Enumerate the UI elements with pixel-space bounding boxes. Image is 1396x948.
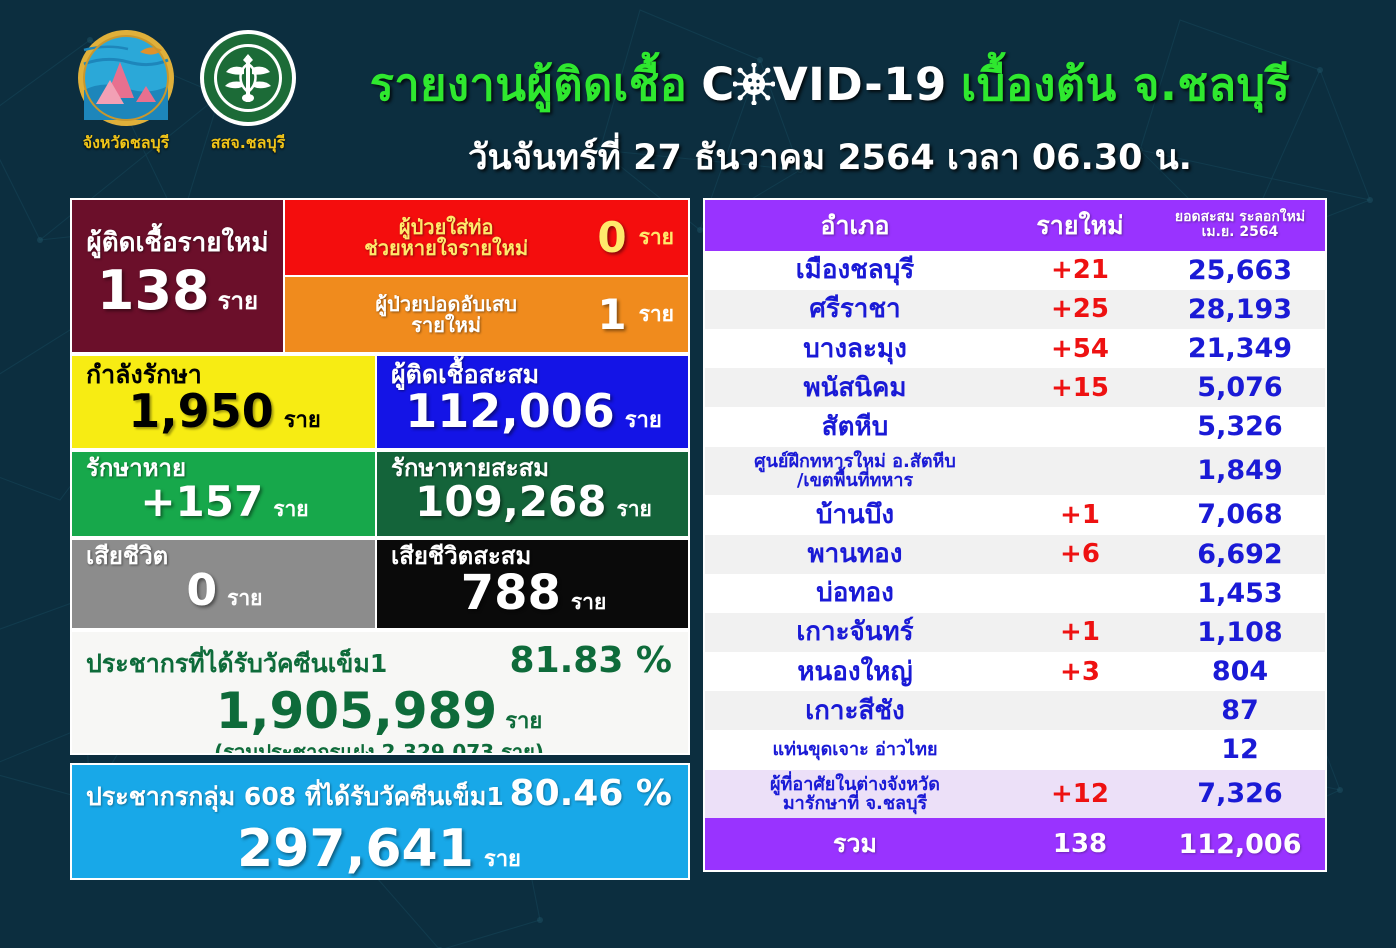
district-name-line: ศูนย์ฝึกทหารใหม่ อ.สัตหีบ [713, 452, 997, 471]
stat-pneumonia-label-line1: ผู้ป่วยปอดอับเสบ [299, 294, 593, 315]
district-name-line: เมืองชลบุรี [713, 256, 997, 284]
vaccine-dose1-note: (รวมประชากรแฝง 2,329,073 ราย) [86, 736, 672, 755]
column-header-cumulative: ยอดสะสม ระลอกใหม่ เม.ย. 2564 [1155, 200, 1325, 251]
table-row: บ้านบึง+17,068 [705, 495, 1325, 534]
district-name-line: สัตหีบ [713, 413, 997, 441]
cell-district-name: พานทอง [705, 535, 1005, 574]
column-header-cumulative-line1: ยอดสะสม ระลอกใหม่ [1161, 210, 1319, 225]
stat-currently-treating: กำลังรักษา 1,950 ราย [70, 354, 375, 450]
cell-district-name: หนองใหญ่ [705, 652, 1005, 691]
stat-recovered-new-value-row: +157 ราย [86, 477, 363, 526]
cell-new-cases [1005, 730, 1155, 769]
district-name-line: เกาะจันทร์ [713, 618, 997, 646]
total-cumulative: 112,006 [1155, 818, 1325, 870]
cell-new-cases: +6 [1005, 535, 1155, 574]
stat-cumulative-deaths-unit: ราย [571, 586, 606, 619]
cell-cumulative-cases: 12 [1155, 730, 1325, 769]
cell-cumulative-cases: 1,453 [1155, 574, 1325, 613]
cell-district-name: เกาะจันทร์ [705, 613, 1005, 652]
summary-stats-panel: ผู้ติดเชื้อรายใหม่ 138 ราย ผู้ป่วยใส่ท่อ… [70, 198, 690, 880]
stat-cumulative-deaths: เสียชีวิตสะสม 788 ราย [375, 538, 690, 630]
logo-group: จังหวัดชลบุรี สสจ.ชลบุรี [0, 0, 304, 156]
cell-cumulative-cases: 1,849 [1155, 447, 1325, 496]
stat-pneumonia-value: 1 [597, 290, 626, 339]
cell-new-cases: +3 [1005, 652, 1155, 691]
page-title: รายงานผู้ติดเชื้อ C [304, 48, 1356, 120]
stats-row-3: รักษาหาย +157 ราย รักษาหายสะสม 109,268 ร… [70, 450, 690, 538]
cell-cumulative-cases: 28,193 [1155, 290, 1325, 329]
cell-district-name: พนัสนิคม [705, 368, 1005, 407]
title-block: รายงานผู้ติดเชื้อ C [304, 0, 1396, 185]
logo-chonburi: จังหวัดชลบุรี [70, 28, 182, 156]
district-name-line: บ่อทอง [713, 579, 997, 607]
table-row: พานทอง+66,692 [705, 535, 1325, 574]
cell-new-cases: +1 [1005, 613, 1155, 652]
stat-cumulative-cases-value-row: 112,006 ราย [391, 384, 676, 438]
coronavirus-icon [733, 63, 775, 105]
district-name-line: ศรีราชา [713, 295, 997, 323]
table-row: สัตหีบ5,326 [705, 407, 1325, 446]
vaccine-group608-top-row: ประชากรกลุ่ม 608 ที่ได้รับวัคซีนเข็ม1 80… [86, 773, 672, 817]
chonburi-provincial-seal-icon [76, 28, 176, 128]
stat-cumulative-cases-unit: ราย [625, 402, 662, 437]
district-table-header-row: อำเภอ รายใหม่ ยอดสะสม ระลอกใหม่ เม.ย. 25… [705, 200, 1325, 251]
district-name-line: เกาะสีชัง [713, 697, 997, 725]
cell-cumulative-cases: 7,068 [1155, 495, 1325, 534]
district-name-line: บางละมุง [713, 335, 997, 363]
stat-new-cases-value-row: 138 ราย [97, 259, 258, 322]
district-name-line: บ้านบึง [713, 501, 997, 529]
stat-ventilator-label-line2: ช่วยหายใจรายใหม่ [299, 238, 593, 259]
vaccine-dose1-block: ประชากรที่ได้รับวัคซีนเข็ม1 81.83 % 1,90… [70, 630, 690, 755]
page-title-part2: เบื้องต้น จ.ชลบุรี [961, 48, 1290, 120]
vaccine-dose1-value: 1,905,989 [216, 682, 498, 740]
stat-recovered-new-unit: ราย [273, 493, 308, 526]
vaccine-dose1-value-row: 1,905,989 ราย [86, 682, 672, 740]
cell-new-cases [1005, 691, 1155, 730]
cell-cumulative-cases: 804 [1155, 652, 1325, 691]
cell-new-cases: +21 [1005, 251, 1155, 290]
table-row: บ่อทอง1,453 [705, 574, 1325, 613]
covid-wordmark: C [701, 58, 947, 111]
district-breakdown-panel: อำเภอ รายใหม่ ยอดสะสม ระลอกใหม่ เม.ย. 25… [703, 198, 1327, 872]
vaccine-dose1-label: ประชากรที่ได้รับวัคซีนเข็ม1 [86, 644, 387, 684]
page-header: จังหวัดชลบุรี สสจ.ชลบุรี รายงานผู้ติด [0, 0, 1396, 188]
cell-district-name: ศูนย์ฝึกทหารใหม่ อ.สัตหีบ/เขตพื้นที่ทหาร [705, 447, 1005, 496]
cell-new-cases [1005, 574, 1155, 613]
cell-new-cases: +25 [1005, 290, 1155, 329]
stat-cumulative-deaths-value-row: 788 ราย [391, 565, 676, 621]
cell-district-name: ศรีราชา [705, 290, 1005, 329]
stat-cumulative-deaths-value: 788 [461, 565, 561, 621]
logo-moph: สสจ.ชลบุรี [192, 28, 304, 156]
stat-deaths-new-value: 0 [186, 565, 217, 616]
page-title-part1: รายงานผู้ติดเชื้อ [370, 48, 688, 120]
column-header-district: อำเภอ [705, 200, 1005, 251]
covid-word-suffix: VID-19 [773, 58, 947, 111]
stat-ventilator-label: ผู้ป่วยใส่ท่อ ช่วยหายใจรายใหม่ [299, 217, 593, 259]
district-name-line: พนัสนิคม [713, 374, 997, 402]
stat-ventilator-label-line1: ผู้ป่วยใส่ท่อ [299, 217, 593, 238]
cell-new-cases [1005, 407, 1155, 446]
cell-district-name: บางละมุง [705, 329, 1005, 368]
stat-deaths-new: เสียชีวิต 0 ราย [70, 538, 375, 630]
vaccine-group608-label: ประชากรกลุ่ม 608 ที่ได้รับวัคซีนเข็ม1 [86, 777, 504, 817]
cell-new-cases: +12 [1005, 770, 1155, 819]
district-name-line: แท่นขุดเจาะ อ่าวไทย [713, 740, 997, 759]
table-row: หนองใหญ่+3804 [705, 652, 1325, 691]
stat-deaths-new-value-row: 0 ราย [86, 565, 363, 616]
vaccine-group608-unit: ราย [484, 841, 521, 876]
stat-pneumonia-new: ผู้ป่วยปอดอับเสบ รายใหม่ 1 ราย [283, 275, 690, 354]
table-row: พนัสนิคม+155,076 [705, 368, 1325, 407]
table-row: แท่นขุดเจาะ อ่าวไทย12 [705, 730, 1325, 769]
cell-district-name: สัตหีบ [705, 407, 1005, 446]
stat-new-cases-unit: ราย [218, 281, 258, 320]
stat-new-cases-value: 138 [97, 259, 210, 322]
stat-recovered-new-value: +157 [140, 477, 263, 526]
district-name-line: พานทอง [713, 540, 997, 568]
vaccine-dose1-unit: ราย [505, 703, 542, 738]
logo-chonburi-caption: จังหวัดชลบุรี [70, 131, 182, 156]
stat-ventilator-new: ผู้ป่วยใส่ท่อ ช่วยหายใจรายใหม่ 0 ราย [283, 198, 690, 275]
district-table-foot: รวม 138 112,006 [705, 818, 1325, 870]
column-header-cumulative-line2: เม.ย. 2564 [1161, 225, 1319, 240]
stat-cumulative-recovered-value: 109,268 [415, 477, 606, 526]
cell-district-name: เมืองชลบุรี [705, 251, 1005, 290]
district-table-head: อำเภอ รายใหม่ ยอดสะสม ระลอกใหม่ เม.ย. 25… [705, 200, 1325, 251]
total-label: รวม [705, 818, 1005, 870]
stat-cumulative-recovered-value-row: 109,268 ราย [391, 477, 676, 526]
stat-cumulative-cases-value: 112,006 [405, 384, 615, 438]
table-row: ศูนย์ฝึกทหารใหม่ อ.สัตหีบ/เขตพื้นที่ทหาร… [705, 447, 1325, 496]
vaccine-group608-percent: 80.46 % [510, 773, 672, 814]
table-row: เกาะจันทร์+11,108 [705, 613, 1325, 652]
stat-pneumonia-label-line2: รายใหม่ [299, 315, 593, 336]
page-subtitle-datetime: วันจันทร์ที่ 27 ธันวาคม 2564 เวลา 06.30 … [304, 130, 1356, 185]
cell-cumulative-cases: 1,108 [1155, 613, 1325, 652]
cell-cumulative-cases: 7,326 [1155, 770, 1325, 819]
vaccine-group608-block: ประชากรกลุ่ม 608 ที่ได้รับวัคซีนเข็ม1 80… [70, 763, 690, 880]
stat-new-cases-label: ผู้ติดเชื้อรายใหม่ [87, 230, 269, 257]
stat-pneumonia-label: ผู้ป่วยปอดอับเสบ รายใหม่ [299, 294, 593, 336]
vaccine-group608-value-row: 297,641 ราย [86, 819, 672, 879]
table-row: เมืองชลบุรี+2125,663 [705, 251, 1325, 290]
cell-cumulative-cases: 25,663 [1155, 251, 1325, 290]
cell-new-cases: +15 [1005, 368, 1155, 407]
stats-row-4: เสียชีวิต 0 ราย เสียชีวิตสะสม 788 ราย [70, 538, 690, 630]
stats-row-2: กำลังรักษา 1,950 ราย ผู้ติดเชื้อสะสม 112… [70, 354, 690, 450]
logo-moph-caption: สสจ.ชลบุรี [192, 131, 304, 156]
cell-cumulative-cases: 5,076 [1155, 368, 1325, 407]
stat-currently-treating-unit: ราย [284, 402, 321, 437]
stats-row-1-right: ผู้ป่วยใส่ท่อ ช่วยหายใจรายใหม่ 0 ราย ผู้… [283, 198, 690, 354]
district-name-line: หนองใหญ่ [713, 658, 997, 686]
stats-row-1: ผู้ติดเชื้อรายใหม่ 138 ราย ผู้ป่วยใส่ท่อ… [70, 198, 690, 354]
cell-district-name: แท่นขุดเจาะ อ่าวไทย [705, 730, 1005, 769]
district-name-line: ผู้ที่อาศัยในต่างจังหวัด [713, 775, 997, 794]
covid-letter-c: C [701, 58, 735, 111]
stat-cumulative-recovered-unit: ราย [616, 493, 651, 526]
cell-district-name: เกาะสีชัง [705, 691, 1005, 730]
table-row: บางละมุง+5421,349 [705, 329, 1325, 368]
stat-new-cases: ผู้ติดเชื้อรายใหม่ 138 ราย [70, 198, 283, 354]
district-table: อำเภอ รายใหม่ ยอดสะสม ระลอกใหม่ เม.ย. 25… [705, 200, 1325, 870]
district-name-line: /เขตพื้นที่ทหาร [713, 471, 997, 490]
stat-currently-treating-value-row: 1,950 ราย [86, 384, 363, 438]
district-table-total-row: รวม 138 112,006 [705, 818, 1325, 870]
cell-cumulative-cases: 87 [1155, 691, 1325, 730]
cell-district-name: บ้านบึง [705, 495, 1005, 534]
table-row: ศรีราชา+2528,193 [705, 290, 1325, 329]
cell-new-cases: +1 [1005, 495, 1155, 534]
total-new-cases: 138 [1005, 818, 1155, 870]
column-header-new-cases: รายใหม่ [1005, 200, 1155, 251]
vaccine-dose1-percent: 81.83 % [510, 640, 672, 681]
stat-deaths-new-unit: ราย [227, 582, 262, 615]
table-row: เกาะสีชัง87 [705, 691, 1325, 730]
stat-ventilator-value: 0 [597, 213, 626, 262]
cell-district-name: ผู้ที่อาศัยในต่างจังหวัดมารักษาที่ จ.ชลบ… [705, 770, 1005, 819]
vaccine-dose1-top-row: ประชากรที่ได้รับวัคซีนเข็ม1 81.83 % [86, 640, 672, 684]
ministry-of-public-health-seal-icon [198, 28, 298, 128]
stat-recovered-new: รักษาหาย +157 ราย [70, 450, 375, 538]
stat-cumulative-recovered: รักษาหายสะสม 109,268 ราย [375, 450, 690, 538]
cell-new-cases: +54 [1005, 329, 1155, 368]
district-table-body: เมืองชลบุรี+2125,663ศรีราชา+2528,193บางล… [705, 251, 1325, 819]
district-name-line: มารักษาที่ จ.ชลบุรี [713, 794, 997, 813]
cell-cumulative-cases: 5,326 [1155, 407, 1325, 446]
vaccine-group608-value: 297,641 [237, 819, 474, 879]
cell-district-name: บ่อทอง [705, 574, 1005, 613]
cell-cumulative-cases: 6,692 [1155, 535, 1325, 574]
table-row: ผู้ที่อาศัยในต่างจังหวัดมารักษาที่ จ.ชลบ… [705, 770, 1325, 819]
cell-cumulative-cases: 21,349 [1155, 329, 1325, 368]
stat-cumulative-cases: ผู้ติดเชื้อสะสม 112,006 ราย [375, 354, 690, 450]
cell-new-cases [1005, 447, 1155, 496]
stat-currently-treating-value: 1,950 [128, 384, 274, 438]
stat-pneumonia-unit: ราย [639, 298, 674, 331]
stat-ventilator-unit: ราย [639, 221, 674, 254]
